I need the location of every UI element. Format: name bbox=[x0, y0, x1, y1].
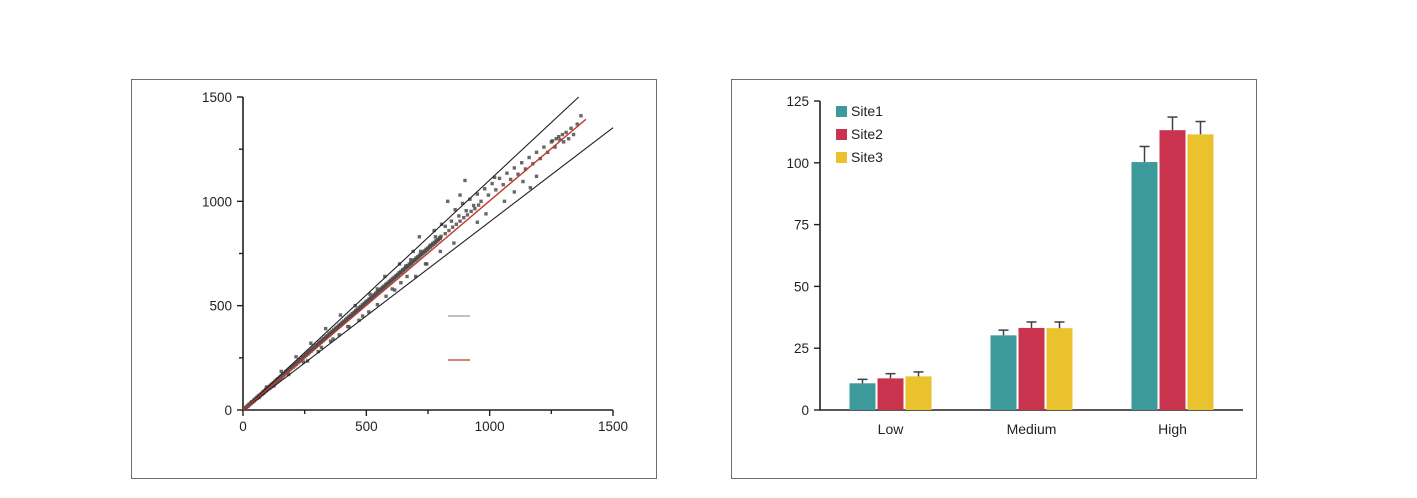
scatter-point bbox=[463, 179, 466, 182]
scatter-point bbox=[502, 183, 505, 186]
legend-label-site1: Site1 bbox=[851, 103, 883, 119]
bar-high-site1 bbox=[1132, 162, 1158, 410]
scatter-point bbox=[567, 137, 570, 140]
scatter-point bbox=[469, 210, 472, 213]
bar-y-tick-label: 125 bbox=[786, 94, 809, 109]
scatter-point bbox=[579, 114, 582, 117]
scatter-point bbox=[551, 139, 554, 142]
scatter-point bbox=[418, 235, 421, 238]
scatter-point bbox=[376, 303, 379, 306]
scatter-point bbox=[462, 216, 465, 219]
legend-label-site2: Site2 bbox=[851, 126, 883, 142]
bar-low-site3 bbox=[906, 376, 932, 410]
bar-y-tick-labels: 0255075100125 bbox=[786, 94, 809, 418]
bar-y-tick-label: 100 bbox=[786, 156, 809, 171]
bar-y-tick-label: 0 bbox=[801, 403, 809, 418]
bar-medium-site2 bbox=[1019, 328, 1045, 410]
right-chart-panel: 0255075100125 LowMediumHigh Site1Site2Si… bbox=[708, 0, 1417, 498]
scatter-point bbox=[409, 258, 412, 261]
scatter-point bbox=[447, 229, 450, 232]
bar-category-labels: LowMediumHigh bbox=[878, 421, 1187, 437]
scatter-point bbox=[434, 235, 437, 238]
scatter-points bbox=[243, 114, 582, 410]
scatter-point bbox=[450, 219, 453, 222]
scatter-point bbox=[487, 193, 490, 196]
scatter-x-tick-label: 1500 bbox=[598, 419, 628, 434]
bar-y-tick-label: 75 bbox=[794, 218, 809, 233]
scatter-point bbox=[535, 151, 538, 154]
scatter-point bbox=[477, 203, 480, 206]
scatter-chart-svg-holder: 050010001500050010001500 bbox=[0, 0, 708, 498]
scatter-point bbox=[529, 186, 532, 189]
legend-swatch-site1 bbox=[836, 106, 847, 117]
scatter-point bbox=[520, 161, 523, 164]
scatter-point bbox=[472, 204, 475, 207]
scatter-point bbox=[439, 235, 442, 238]
scatter-y-tick-label: 1500 bbox=[202, 90, 232, 105]
scatter-point bbox=[527, 156, 530, 159]
scatter-x-tick-label: 0 bbox=[239, 419, 247, 434]
scatter-point bbox=[391, 287, 394, 290]
legend-swatch-site2 bbox=[836, 129, 847, 140]
scatter-x-tick-label: 1000 bbox=[475, 419, 505, 434]
scatter-point bbox=[458, 219, 461, 222]
scatter-point bbox=[439, 250, 442, 253]
scatter-point bbox=[419, 250, 422, 253]
scatter-fit-and-limit-lines bbox=[243, 97, 613, 410]
scatter-point bbox=[479, 200, 482, 203]
scatter-point bbox=[384, 295, 387, 298]
scatter-point bbox=[569, 127, 572, 130]
allowable-difference-lower-line bbox=[243, 128, 613, 410]
bar-medium-site3 bbox=[1047, 328, 1073, 410]
scatter-point bbox=[309, 342, 312, 345]
legend-label-site3: Site3 bbox=[851, 149, 883, 165]
bar-category-label: Low bbox=[878, 421, 905, 437]
bar-high-site2 bbox=[1160, 130, 1186, 410]
scatter-point bbox=[473, 207, 476, 210]
bar-low-site1 bbox=[850, 383, 876, 410]
left-chart-panel: 050010001500050010001500 bbox=[0, 0, 708, 498]
scatter-point bbox=[405, 275, 408, 278]
scatter-point bbox=[555, 137, 558, 140]
scatter-point bbox=[513, 190, 516, 193]
bar-y-tick-label: 25 bbox=[794, 341, 809, 356]
scatter-point bbox=[498, 177, 501, 180]
bar-legend: Site1Site2Site3 bbox=[836, 103, 883, 165]
bar-series-bars bbox=[850, 130, 1214, 410]
bar-category-label: Medium bbox=[1007, 421, 1057, 437]
scatter-point bbox=[505, 171, 508, 174]
scatter-point bbox=[535, 175, 538, 178]
scatter-point bbox=[339, 313, 342, 316]
bar-chart-svg-holder: 0255075100125 LowMediumHigh Site1Site2Si… bbox=[708, 0, 1417, 498]
scatter-point bbox=[484, 212, 487, 215]
scatter-point bbox=[466, 213, 469, 216]
bar-high-site3 bbox=[1188, 134, 1214, 410]
scatter-point bbox=[324, 327, 327, 330]
site-variation-bar-chart: 0255075100125 LowMediumHigh Site1Site2Si… bbox=[708, 0, 1417, 498]
scatter-point bbox=[564, 131, 567, 134]
scatter-point bbox=[404, 264, 407, 267]
scatter-point bbox=[465, 209, 468, 212]
scatter-point bbox=[444, 225, 447, 228]
scatter-point bbox=[509, 178, 512, 181]
scatter-point bbox=[452, 241, 455, 244]
scatter-point bbox=[561, 133, 564, 136]
scatter-point bbox=[444, 232, 447, 235]
scatter-point bbox=[457, 214, 460, 217]
legend-swatch-site3 bbox=[836, 152, 847, 163]
passing-bablok-fit-line bbox=[243, 119, 586, 410]
scatter-point bbox=[503, 200, 506, 203]
scatter-point bbox=[429, 243, 432, 246]
bar-low-site2 bbox=[878, 378, 904, 410]
scatter-point bbox=[451, 226, 454, 229]
scatter-point bbox=[483, 187, 486, 190]
scatter-point bbox=[446, 200, 449, 203]
scatter-y-tick-label: 500 bbox=[209, 299, 232, 314]
scatter-point bbox=[458, 193, 461, 196]
scatter-point bbox=[494, 188, 497, 191]
scatter-point bbox=[425, 262, 428, 265]
scatter-x-tick-label: 500 bbox=[355, 419, 378, 434]
scatter-point bbox=[542, 145, 545, 148]
scatter-point bbox=[521, 180, 524, 183]
bar-y-tick-label: 50 bbox=[794, 279, 809, 294]
scatter-y-tick-label: 1000 bbox=[202, 194, 232, 209]
correlation-scatter-chart: 050010001500050010001500 bbox=[0, 0, 708, 498]
scatter-point bbox=[376, 287, 379, 290]
bar-category-label: High bbox=[1158, 421, 1187, 437]
scatter-point bbox=[562, 140, 565, 143]
allowable-difference-upper-line bbox=[243, 97, 579, 410]
scatter-y-tick-label: 0 bbox=[224, 403, 232, 418]
scatter-point bbox=[294, 355, 297, 358]
scatter-point bbox=[513, 166, 516, 169]
scatter-point bbox=[455, 223, 458, 226]
scatter-point bbox=[476, 221, 479, 224]
scatter-point bbox=[490, 182, 493, 185]
scatter-point bbox=[572, 133, 575, 136]
scatter-point bbox=[399, 281, 402, 284]
bar-medium-site1 bbox=[991, 335, 1017, 410]
scatter-point bbox=[346, 325, 349, 328]
scatter-legend bbox=[448, 316, 470, 360]
